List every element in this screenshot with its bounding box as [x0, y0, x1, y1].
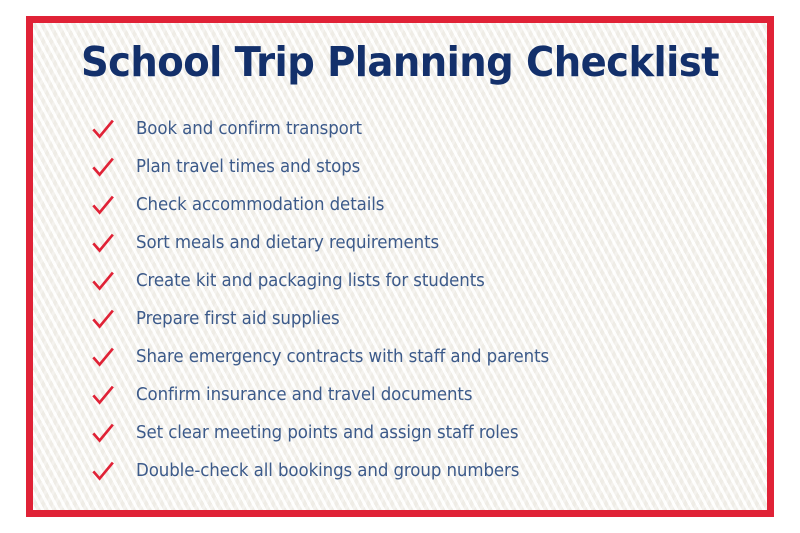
list-item-label: Plan travel times and stops — [136, 159, 360, 177]
page-title: School Trip Planning Checklist — [55, 39, 745, 86]
list-item: Plan travel times and stops — [33, 149, 767, 187]
check-icon — [91, 270, 115, 294]
checklist-card: School Trip Planning Checklist Book and … — [26, 16, 774, 517]
list-item: Share emergency contracts with staff and… — [33, 339, 767, 377]
list-item-label: Book and confirm transport — [136, 121, 362, 139]
list-item: Prepare first aid supplies — [33, 301, 767, 339]
list-item-label: Check accommodation details — [136, 197, 384, 215]
list-item: Book and confirm transport — [33, 111, 767, 149]
list-item-label: Double-check all bookings and group numb… — [136, 463, 519, 481]
check-icon — [91, 232, 115, 256]
list-item: Confirm insurance and travel documents — [33, 377, 767, 415]
check-icon — [91, 422, 115, 446]
list-item-label: Set clear meeting points and assign staf… — [136, 425, 519, 443]
list-item: Set clear meeting points and assign staf… — [33, 415, 767, 453]
list-item-label: Sort meals and dietary requirements — [136, 235, 439, 253]
check-icon — [91, 384, 115, 408]
list-item-label: Confirm insurance and travel documents — [136, 387, 472, 405]
list-item: Create kit and packaging lists for stude… — [33, 263, 767, 301]
check-icon — [91, 460, 115, 484]
list-item-label: Create kit and packaging lists for stude… — [136, 273, 485, 291]
check-icon — [91, 346, 115, 370]
list-item: Check accommodation details — [33, 187, 767, 225]
list-item-label: Share emergency contracts with staff and… — [136, 349, 549, 367]
check-icon — [91, 308, 115, 332]
list-item: Sort meals and dietary requirements — [33, 225, 767, 263]
checklist: Book and confirm transport Plan travel t… — [33, 111, 767, 491]
list-item: Double-check all bookings and group numb… — [33, 453, 767, 491]
card-inner: School Trip Planning Checklist Book and … — [33, 23, 767, 510]
check-icon — [91, 194, 115, 218]
check-icon — [91, 118, 115, 142]
list-item-label: Prepare first aid supplies — [136, 311, 340, 329]
check-icon — [91, 156, 115, 180]
checklist-poster: School Trip Planning Checklist Book and … — [0, 0, 800, 533]
